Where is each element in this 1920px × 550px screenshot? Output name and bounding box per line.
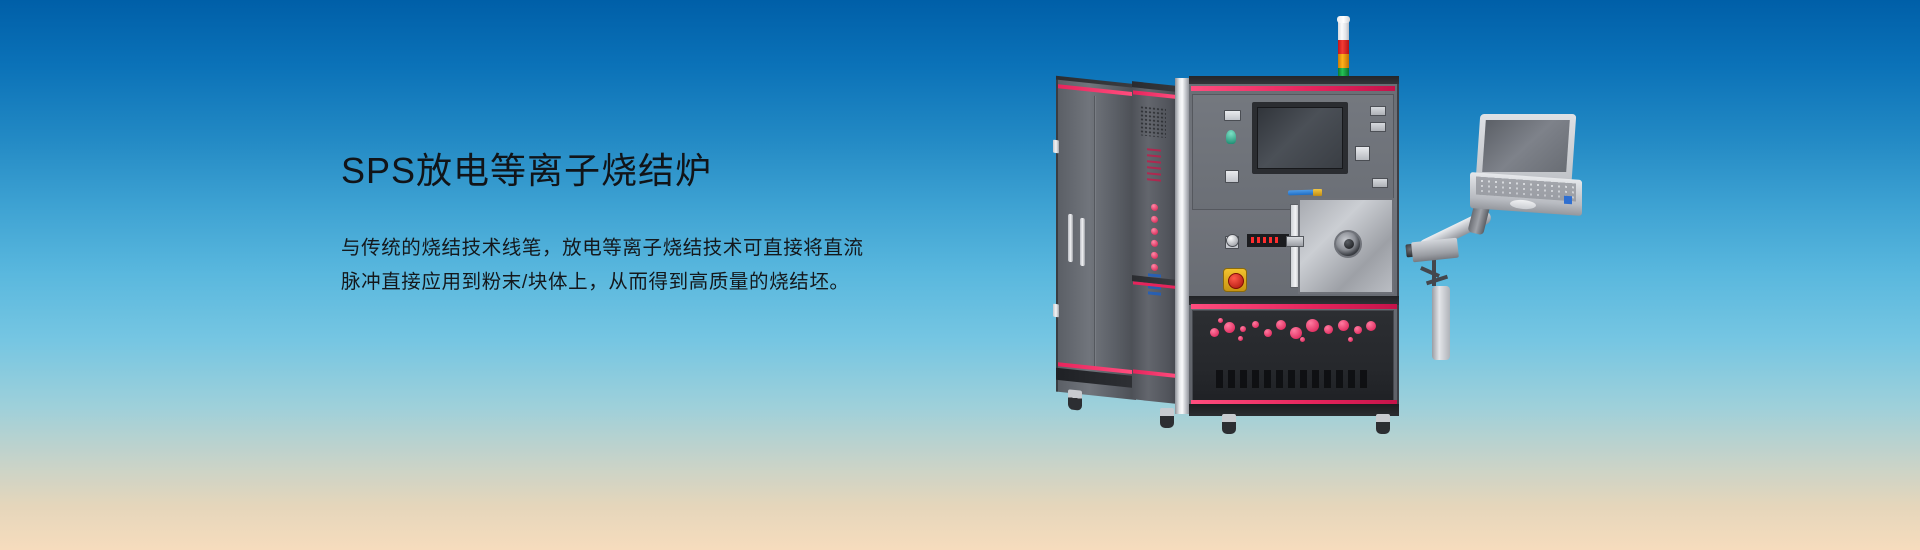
digital-readout-display xyxy=(1245,232,1291,249)
description-line-1: 与传统的烧结技术线笔，放电等离子烧结技术可直接将直流 xyxy=(341,231,961,265)
monitor-arm-post xyxy=(1432,286,1450,360)
left-cabinet-hinge-top xyxy=(1053,140,1059,154)
left-cabinet-handle-b xyxy=(1080,218,1085,267)
front-cabinet-stripe-mid xyxy=(1191,304,1397,309)
chamber-viewport-icon xyxy=(1334,230,1362,258)
caster-wheel-front-left xyxy=(1222,414,1236,434)
caster-wheel-rear-left xyxy=(1068,389,1082,410)
panel-button-2[interactable] xyxy=(1370,122,1386,132)
connector-dot-cluster xyxy=(1208,318,1380,344)
caster-wheel-mid xyxy=(1160,408,1174,428)
mid-cabinet-vent-grille xyxy=(1140,105,1166,138)
corner-pillar xyxy=(1175,78,1190,414)
panel-button-1[interactable] xyxy=(1370,106,1386,116)
mid-cabinet-label-column xyxy=(1144,144,1164,186)
mid-cabinet-indicator-lamps xyxy=(1143,198,1165,277)
front-cabinet-stripe-top xyxy=(1191,86,1395,91)
page-title: SPS放电等离子烧结炉 xyxy=(341,148,961,193)
banner-text-block: SPS放电等离子烧结炉 与传统的烧结技术线笔，放电等离子烧结技术可直接将直流 脉… xyxy=(341,148,961,299)
laptop-badge-icon xyxy=(1564,196,1572,205)
emergency-stop-button[interactable] xyxy=(1223,268,1247,292)
left-cabinet-door-seam xyxy=(1094,96,1096,368)
camera-mount-bracket xyxy=(1418,258,1452,290)
front-cabinet-base xyxy=(1189,404,1399,416)
left-cabinet-handle-a xyxy=(1068,214,1073,263)
caster-wheel-front-right xyxy=(1376,414,1390,434)
usb-port[interactable] xyxy=(1355,146,1370,161)
panel-button-3[interactable] xyxy=(1372,178,1388,188)
laptop-screen[interactable] xyxy=(1482,120,1570,172)
key-switch-icon[interactable] xyxy=(1226,130,1236,144)
hero-banner: SPS放电等离子烧结炉 与传统的烧结技术线笔，放电等离子烧结技术可直接将直流 脉… xyxy=(0,0,1920,550)
signal-lamp-amber-icon xyxy=(1338,54,1349,68)
left-cabinet-hinge-bottom xyxy=(1053,304,1059,318)
hmi-touchscreen[interactable] xyxy=(1258,108,1342,168)
toggle-switch-top[interactable] xyxy=(1224,110,1241,121)
chamber-door-latch[interactable] xyxy=(1286,236,1304,247)
coolant-pipe-top xyxy=(1288,190,1316,196)
signal-tower-cap xyxy=(1337,16,1350,23)
toggle-switch-middle[interactable] xyxy=(1225,170,1239,183)
rotary-dial[interactable] xyxy=(1226,234,1239,247)
sps-furnace-image xyxy=(1040,18,1670,438)
pipe-fitting-top xyxy=(1313,189,1322,196)
signal-lamp-red-icon xyxy=(1338,40,1349,54)
lower-panel-vent xyxy=(1216,370,1372,388)
description-line-2: 脉冲直接应用到粉末/块体上，从而得到高质量的烧结坯。 xyxy=(341,265,961,299)
